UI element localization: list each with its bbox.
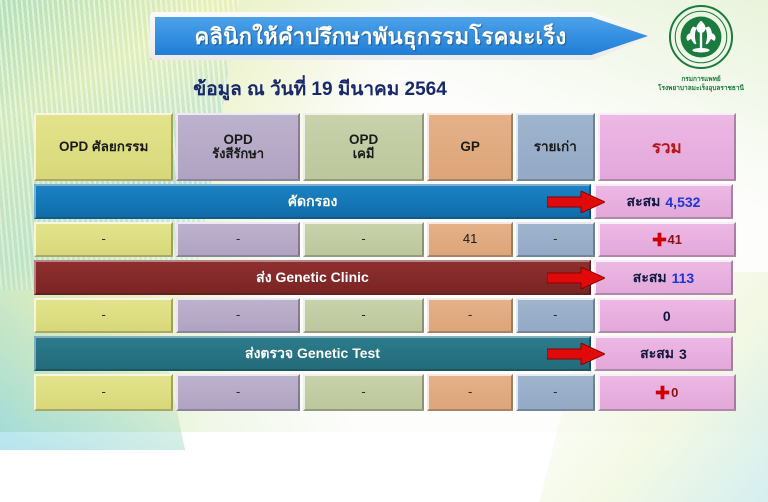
accumulated-label: สะสม [640,343,674,365]
accumulated-value: 113 [672,270,695,286]
header: คลินิกให้คำปรึกษาพันธุกรรมโรคมะเร็ง ข้อม… [0,0,768,110]
cell-value: - [361,232,365,247]
total-sent-genetic-test: สะสม3 [594,336,733,371]
accumulated-value: 3 [679,346,687,362]
table-band-row: คัดกรองสะสม4,532 [34,184,736,219]
cell-genetic-clinic-counts-2: - [176,298,299,333]
red-cross-icon [655,385,670,400]
ministry-seal-icon [668,4,734,70]
column-header-5: รายเก่า [516,113,595,181]
column-header-1: OPD ศัลยกรรม [34,113,173,181]
total-header-label: รวม [652,134,682,161]
cell-screening-counts-3: - [303,222,424,257]
delta-value: 0 [671,385,678,400]
cell-value: - [553,308,557,323]
red-arrow-icon [547,191,605,213]
column-header-label: รายเก่า [534,139,577,154]
band-label-text: ส่งตรวจ Genetic Test [245,343,380,365]
column-header-3: OPDเคมี [303,113,424,181]
column-header-label: OPD [349,132,378,147]
cell-value: - [468,385,472,400]
band-label-sent-genetic-test: ส่งตรวจ Genetic Test [34,336,591,371]
total-genetic-test-counts: 0 [598,374,736,411]
total-sent-genetic-clinic: สะสม113 [594,260,733,295]
cell-genetic-clinic-counts-5: - [516,298,595,333]
cell-value: - [102,232,106,247]
table-row: ---41-41 [34,222,736,257]
accumulated-label: สะสม [627,191,661,213]
table-band-row: ส่ง Genetic Clinicสะสม113 [34,260,736,295]
cell-screening-counts-4: 41 [427,222,513,257]
cell-genetic-clinic-counts-1: - [34,298,173,333]
total-value: 0 [663,308,671,324]
page-title: คลินิกให้คำปรึกษาพันธุกรรมโรคมะเร็ง [194,19,608,54]
cell-genetic-test-counts-2: - [176,374,299,411]
column-header-label: OPD ศัลยกรรม [59,139,148,154]
cell-value: - [468,308,472,323]
cell-value: - [236,232,240,247]
cell-value: - [102,385,106,400]
column-header-label: OPD [223,132,252,147]
band-label-screening: คัดกรอง [34,184,591,219]
cell-genetic-test-counts-3: - [303,374,424,411]
cell-screening-counts-2: - [176,222,299,257]
column-header-sublabel: รังสีรักษา [212,147,264,162]
column-header-2: OPDรังสีรักษา [176,113,299,181]
title-chevron-shape: คลินิกให้คำปรึกษาพันธุกรรมโรคมะเร็ง [155,17,648,55]
organization-logo: กรมการแพทย์ โรงพยาบาลมะเร็งอุบลราชธานี [642,4,760,94]
band-label-text: ส่ง Genetic Clinic [256,267,369,289]
cell-genetic-clinic-counts-4: - [427,298,513,333]
cell-screening-counts-1: - [34,222,173,257]
cell-value: 41 [463,232,477,247]
total-column-header: รวม [598,113,736,181]
table-header-row: OPD ศัลยกรรมOPDรังสีรักษาOPDเคมีGPรายเก่… [34,113,736,181]
delta-value: 41 [668,232,682,247]
red-arrow-icon [547,343,605,365]
cell-value: - [236,308,240,323]
band-label-sent-genetic-clinic: ส่ง Genetic Clinic [34,260,591,295]
total-screening: สะสม4,532 [594,184,733,219]
table-row: -----0 [34,374,736,411]
total-genetic-clinic-counts: 0 [598,298,736,333]
red-arrow-icon [547,267,605,289]
total-screening-counts: 41 [598,222,736,257]
column-header-label: GP [460,139,480,154]
cell-value: - [236,385,240,400]
cell-genetic-test-counts-5: - [516,374,595,411]
accumulated-label: สะสม [633,267,667,289]
column-header-4: GP [427,113,513,181]
cell-genetic-test-counts-4: - [427,374,513,411]
cell-value: - [553,232,557,247]
cell-value: - [361,385,365,400]
red-cross-icon [652,232,667,247]
cell-value: - [361,308,365,323]
summary-table: OPD ศัลยกรรมOPDรังสีรักษาOPDเคมีGPรายเก่… [34,113,736,425]
cell-genetic-clinic-counts-3: - [303,298,424,333]
title-banner: คลินิกให้คำปรึกษาพันธุกรรมโรคมะเร็ง [150,12,653,60]
cell-genetic-test-counts-1: - [34,374,173,411]
data-as-of-date: ข้อมูล ณ วันที่ 19 มีนาคม 2564 [0,74,640,104]
table-row: -----0 [34,298,736,333]
organization-name: กรมการแพทย์ โรงพยาบาลมะเร็งอุบลราชธานี [642,76,760,94]
cell-value: - [553,385,557,400]
column-header-sublabel: เคมี [353,147,375,162]
accumulated-value: 4,532 [665,194,700,210]
cell-screening-counts-5: - [516,222,595,257]
cell-value: - [102,308,106,323]
table-band-row: ส่งตรวจ Genetic Testสะสม3 [34,336,736,371]
band-label-text: คัดกรอง [288,191,338,213]
